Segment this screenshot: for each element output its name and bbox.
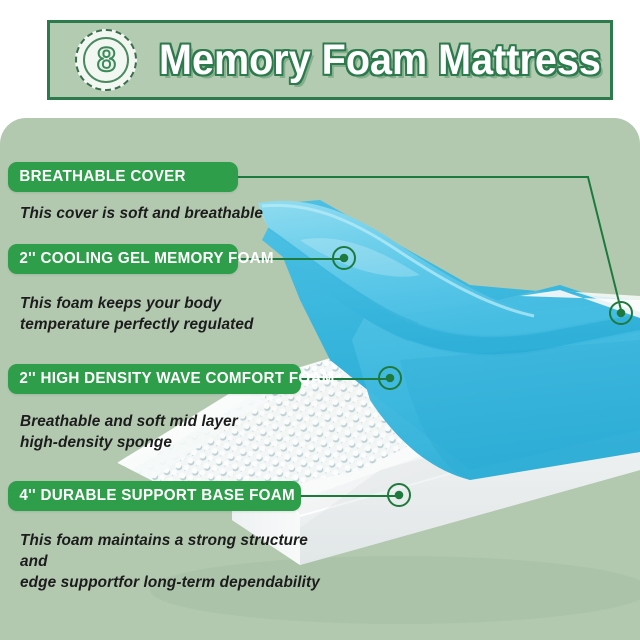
description-high-density-wave-comfort-foam: Breathable and soft mid layer high-densi… <box>20 411 298 453</box>
label-pill-cooling-gel-memory-foam[interactable]: 2'' COOLING GEL MEMORY FOAM <box>8 244 238 274</box>
label-pill-high-density-wave-comfort-foam[interactable]: 2'' HIGH DENSITY WAVE COMFORT FOAM <box>8 364 301 394</box>
description-cooling-gel-memory-foam: This foam keeps your body temperature pe… <box>20 293 289 335</box>
label-pill-durable-support-base-foam[interactable]: 4'' DURABLE SUPPORT BASE FOAM <box>8 481 301 511</box>
label-pill-breathable-cover[interactable]: BREATHABLE COVER <box>8 162 238 192</box>
label-text-breathable-cover: BREATHABLE COVER <box>8 168 197 186</box>
infographic-page: 8 Memory Foam Mattress <box>0 0 640 640</box>
label-text-high-density-wave-comfort-foam: 2'' HIGH DENSITY WAVE COMFORT FOAM <box>8 370 346 388</box>
description-durable-support-base-foam: This foam maintains a strong structure a… <box>20 530 327 593</box>
label-text-durable-support-base-foam: 4'' DURABLE SUPPORT BASE FOAM <box>8 487 306 505</box>
step-number-badge: 8 <box>75 29 137 91</box>
description-breathable-cover: This cover is soft and breathable <box>20 203 289 224</box>
page-title: Memory Foam Mattress <box>159 36 601 85</box>
label-text-cooling-gel-memory-foam: 2'' COOLING GEL MEMORY FOAM <box>8 250 285 268</box>
badge-number-text: 8 <box>97 43 115 77</box>
header-banner: 8 Memory Foam Mattress <box>47 20 613 100</box>
